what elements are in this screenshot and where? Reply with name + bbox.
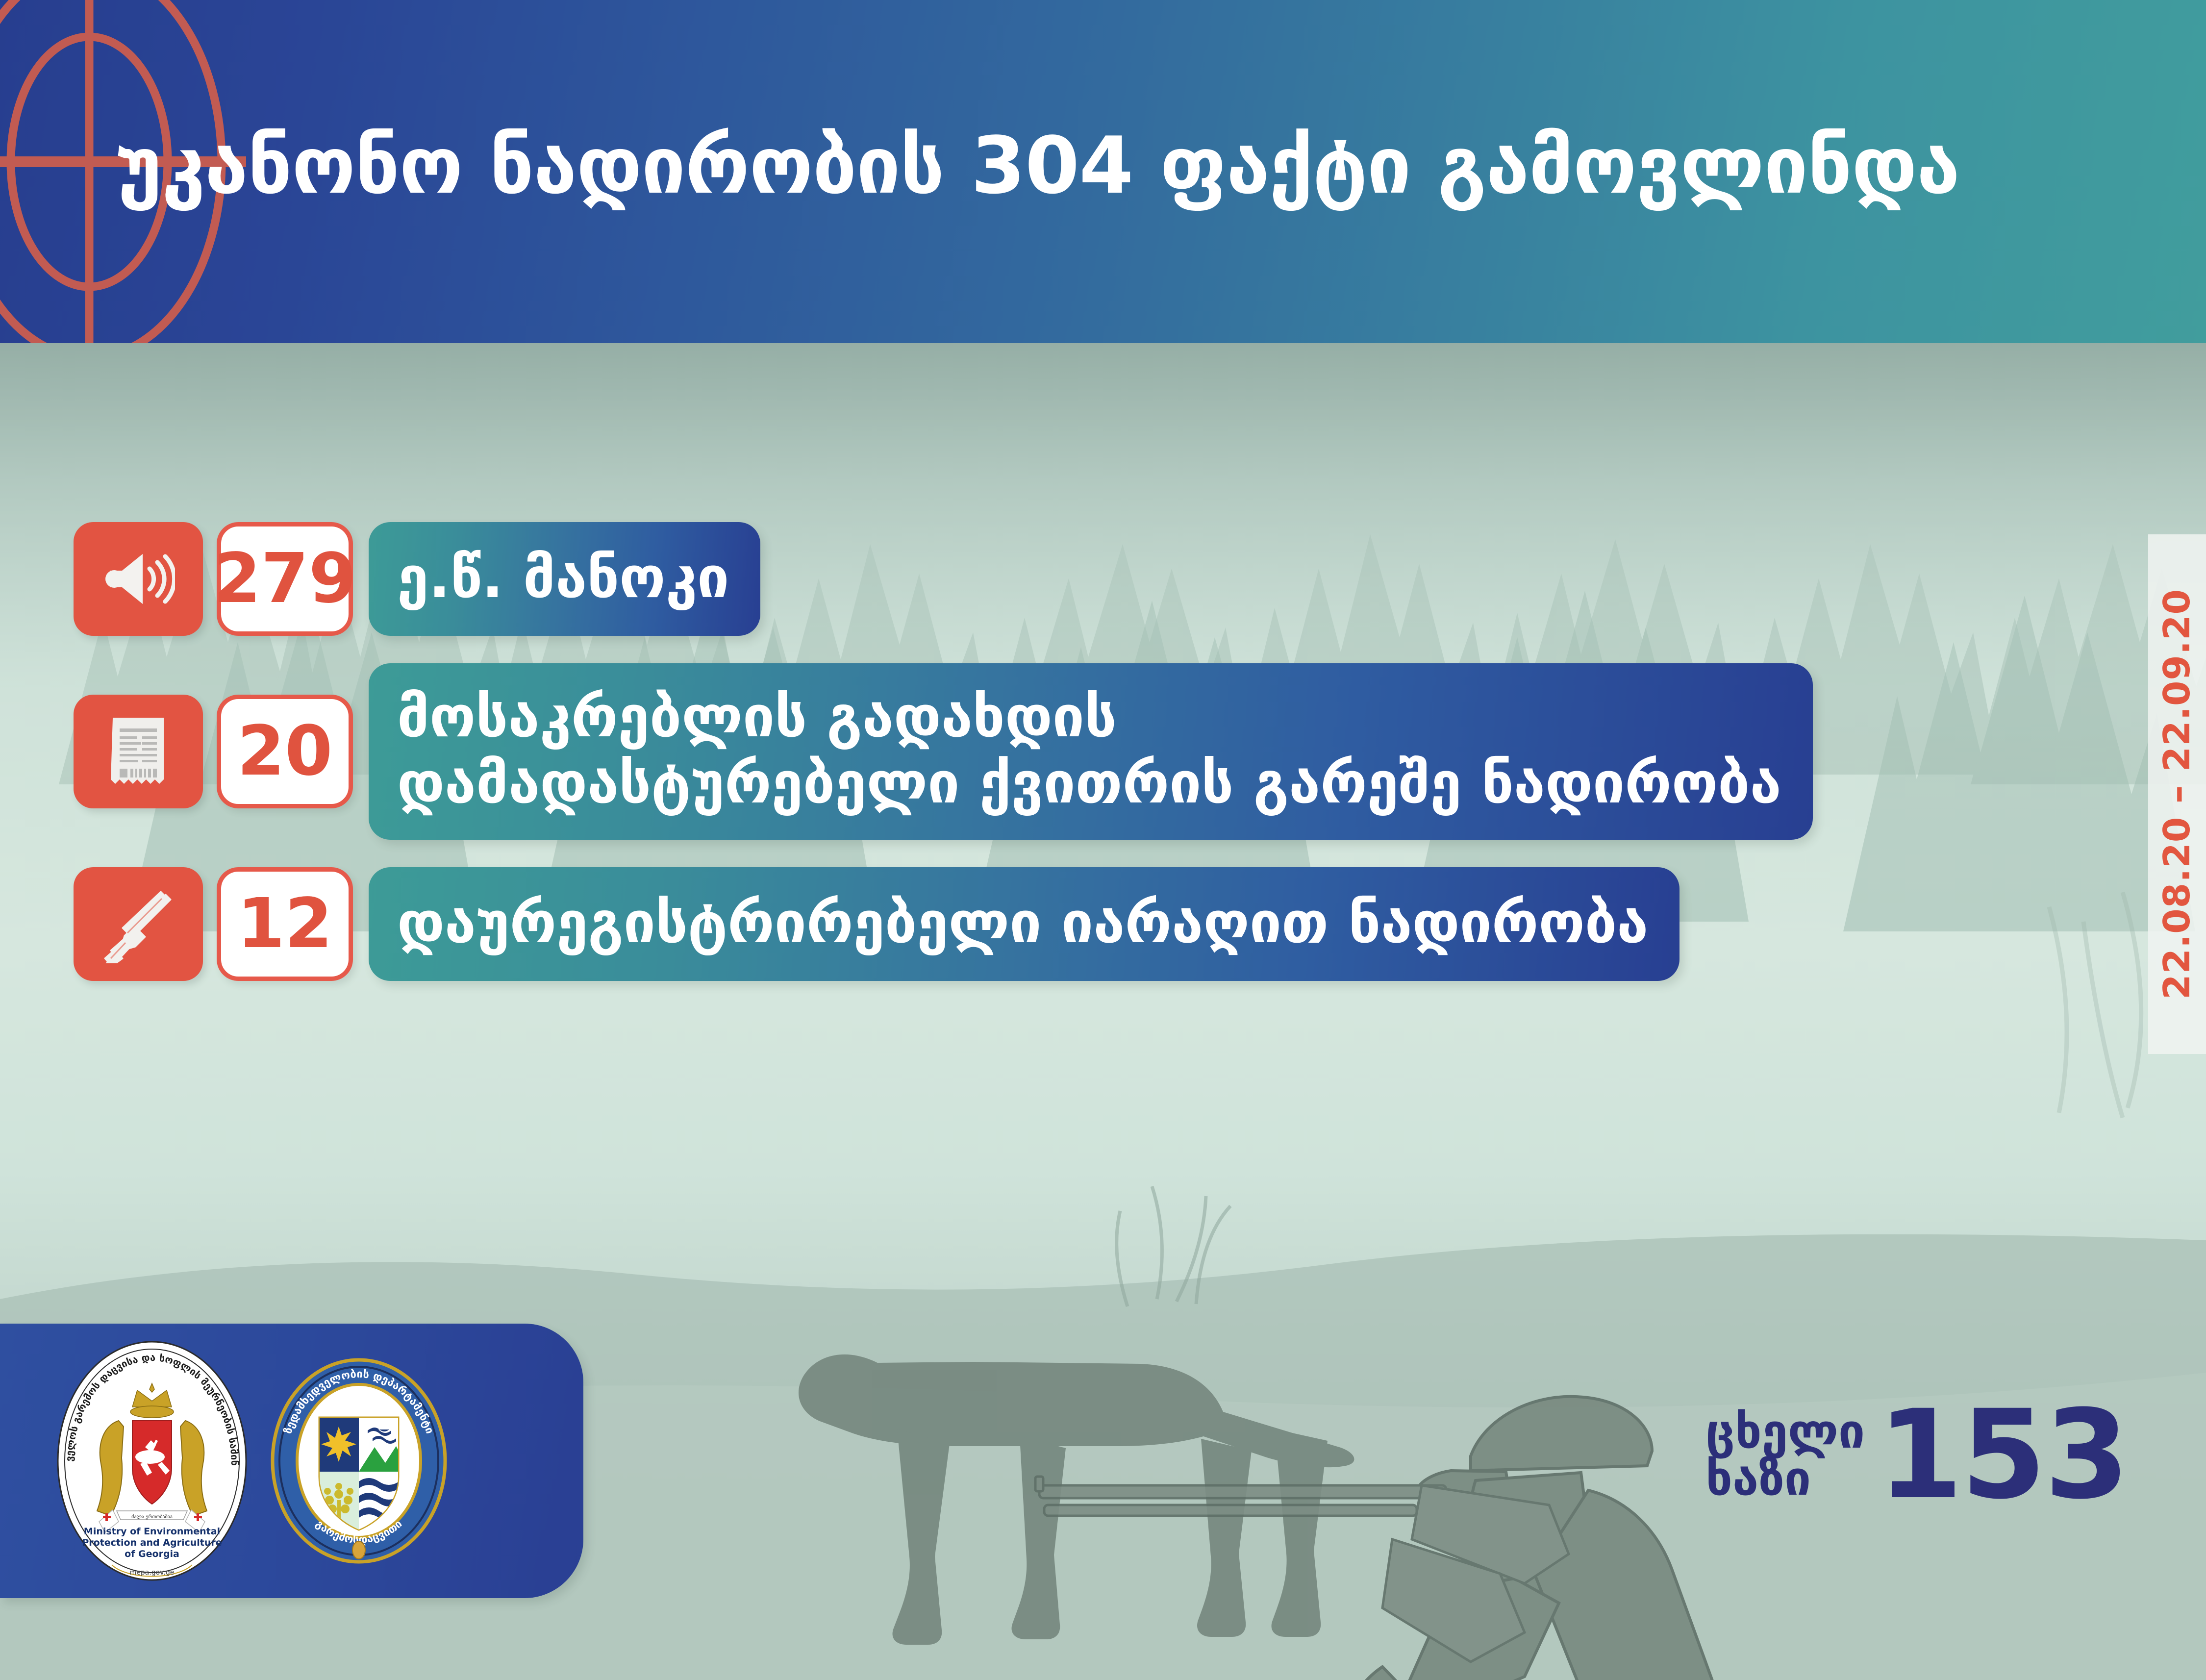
svg-text:ძალა ერთობაშია: ძალა ერთობაშია — [131, 1514, 173, 1520]
stat-count: 20 — [217, 695, 353, 808]
mepa-en-line3: of Georgia — [125, 1549, 179, 1559]
infographic-poster: უკანონო ნადირობის 304 ფაქტი გამოვლინდა — [0, 0, 2206, 1680]
stat-label: მოსაკრებლის გადახდის დამადასტურებელი ქვი… — [369, 663, 1813, 840]
hotline-block: ცხელი ხაზი 153 — [1705, 1402, 2128, 1507]
mepa-en-line1: Ministry of Environmental — [84, 1526, 220, 1537]
stat-label: ე.წ. მანოკი — [369, 522, 760, 636]
stat-label-line: დაურეგისტრირებელი იარაღით ნადირობა — [397, 890, 1648, 956]
stat-row: 279 ე.წ. მანოკი — [74, 522, 2034, 636]
stat-row: 12 დაურეგისტრირებელი იარაღით ნადირობა — [74, 867, 2034, 981]
stat-count: 279 — [217, 522, 353, 636]
stats-list: 279 ე.წ. მანოკი — [74, 522, 2034, 1008]
stat-label: დაურეგისტრირებელი იარაღით ნადირობა — [369, 867, 1680, 981]
mepa-seal: საქართველოს გარემოს დაცვისა და სოფლის მე… — [54, 1338, 250, 1583]
hotline-word-1: ცხელი — [1705, 1408, 1865, 1455]
shotgun-rifle-icon — [74, 867, 203, 981]
hotline-words: ცხელი ხაზი — [1705, 1408, 1865, 1502]
receipt-barcode-icon — [74, 695, 203, 808]
hotline-word-2: ხაზი — [1705, 1455, 1865, 1502]
page-title: უკანონო ნადირობის 304 ფაქტი გამოვლინდა — [116, 126, 2126, 205]
mepa-website: mepa.gov.ge — [130, 1569, 175, 1577]
environmental-supervision-department-seal: ზედამხედველობის დეპარტამენტი გარემოსდაცვ… — [261, 1353, 457, 1569]
stat-count: 12 — [217, 867, 353, 981]
stat-label-line: მოსაკრებლის გადახდის — [397, 684, 1781, 751]
stat-row: 20 მოსაკრებლის გადახდის დამადასტურებელი … — [74, 663, 2034, 840]
hotline-number: 153 — [1878, 1402, 2128, 1507]
stat-label-line: დამადასტურებელი ქვითრის გარეშე ნადირობა — [397, 751, 1781, 817]
mepa-en-line2: Protection and Agriculture — [82, 1537, 222, 1548]
date-range-tab: 22.08.20 – 22.09.20 — [2148, 534, 2206, 1054]
header-banner: უკანონო ნადირობის 304 ფაქტი გამოვლინდა — [0, 0, 2206, 352]
logo-panel: საქართველოს გარემოს დაცვისა და სოფლის მე… — [0, 1324, 583, 1598]
stat-label-line: ე.წ. მანოკი — [397, 545, 729, 611]
megaphone-speaker-icon — [74, 522, 203, 636]
date-range-label: 22.08.20 – 22.09.20 — [2156, 589, 2198, 1000]
